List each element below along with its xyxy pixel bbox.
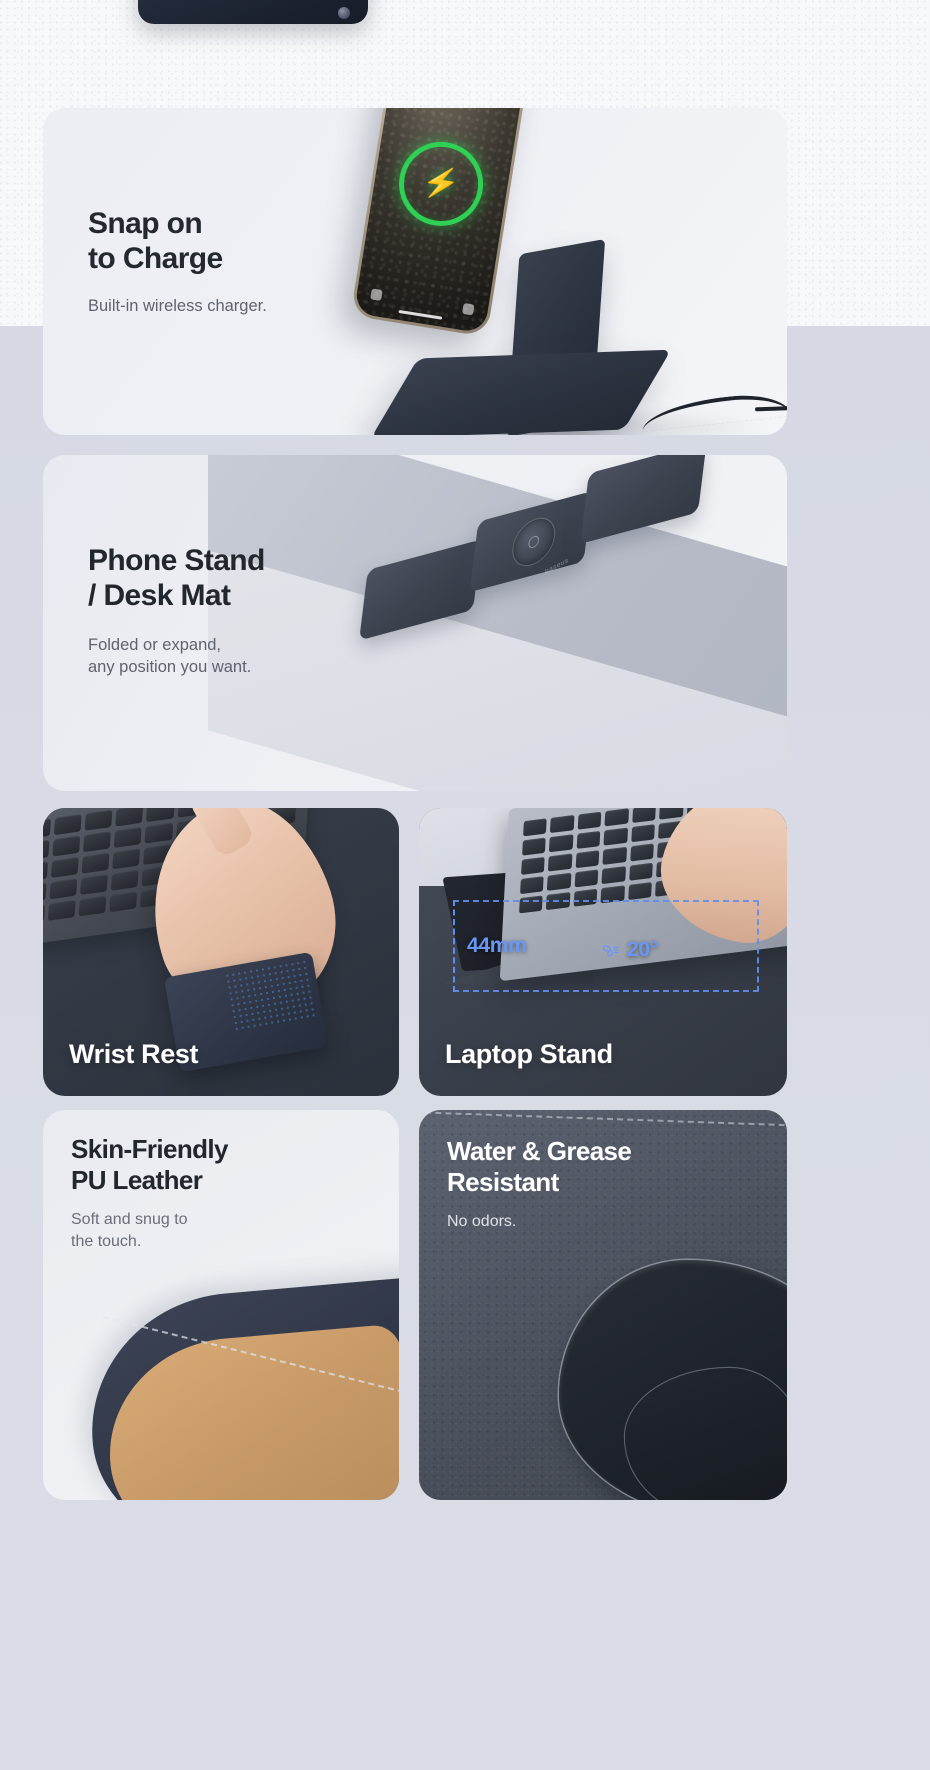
water-card-title: Water & Grease Resistant bbox=[447, 1136, 631, 1197]
measurement-vertical-guide bbox=[453, 900, 455, 992]
skin-card-subtitle: Soft and snug to the touch. bbox=[71, 1209, 228, 1253]
feature-card-water-grease-resistant[interactable]: Water & Grease Resistant No odors. bbox=[419, 1110, 787, 1500]
wrist-rest-title: Wrist Rest bbox=[69, 1039, 198, 1070]
snap-card-text-block: Snap on to Charge Built-in wireless char… bbox=[88, 206, 267, 317]
feature-card-laptop-stand[interactable]: 44mm 20° Laptop Stand bbox=[419, 808, 787, 1096]
stand-card-title: Phone Stand / Desk Mat bbox=[88, 543, 265, 614]
index-finger bbox=[184, 808, 256, 859]
feature-card-wrist-rest[interactable]: Wrist Rest bbox=[43, 808, 399, 1096]
iphone-device: Wednesday, September 7 9:41 ⚡ bbox=[350, 108, 533, 337]
wireless-charging-ring: ⚡ bbox=[393, 136, 489, 232]
skin-card-title: Skin-Friendly PU Leather bbox=[71, 1134, 228, 1195]
skin-card-text-block: Skin-Friendly PU Leather Soft and snug t… bbox=[71, 1134, 228, 1253]
feature-card-phone-stand-desk-mat[interactable]: baseus baseus Phone Stand / Desk Mat Fol… bbox=[43, 455, 787, 791]
lockscreen-time: 9:41 bbox=[388, 108, 525, 117]
feature-card-snap-to-charge[interactable]: Wednesday, September 7 9:41 ⚡ Snap on to… bbox=[43, 108, 787, 435]
desk-mat-corner-object bbox=[138, 0, 368, 24]
stand-card-text-block: Phone Stand / Desk Mat Folded or expand,… bbox=[88, 543, 265, 679]
lightning-bolt-icon: ⚡ bbox=[420, 166, 462, 201]
home-indicator bbox=[398, 310, 442, 320]
iphone-lockscreen: Wednesday, September 7 9:41 ⚡ bbox=[354, 108, 530, 334]
angle-measurement-label: 20° bbox=[627, 938, 658, 962]
height-measurement-label: 44mm bbox=[467, 934, 527, 958]
feature-card-skin-friendly-pu-leather[interactable]: Skin-Friendly PU Leather Soft and snug t… bbox=[43, 1110, 399, 1500]
snap-card-title: Snap on to Charge bbox=[88, 206, 267, 277]
water-card-text-block: Water & Grease Resistant No odors. bbox=[447, 1136, 631, 1233]
stand-base-panel bbox=[371, 350, 671, 435]
camera-icon bbox=[462, 303, 475, 316]
water-card-subtitle: No odors. bbox=[447, 1211, 631, 1233]
fan-icon bbox=[601, 940, 621, 960]
product-feature-page: Wednesday, September 7 9:41 ⚡ Snap on to… bbox=[0, 0, 930, 1770]
laptop-stand-title: Laptop Stand bbox=[445, 1039, 613, 1070]
stand-card-subtitle: Folded or expand, any position you want. bbox=[88, 634, 265, 679]
snap-card-subtitle: Built-in wireless charger. bbox=[88, 295, 267, 317]
mat-segment-right bbox=[580, 455, 707, 544]
flashlight-icon bbox=[370, 288, 383, 301]
